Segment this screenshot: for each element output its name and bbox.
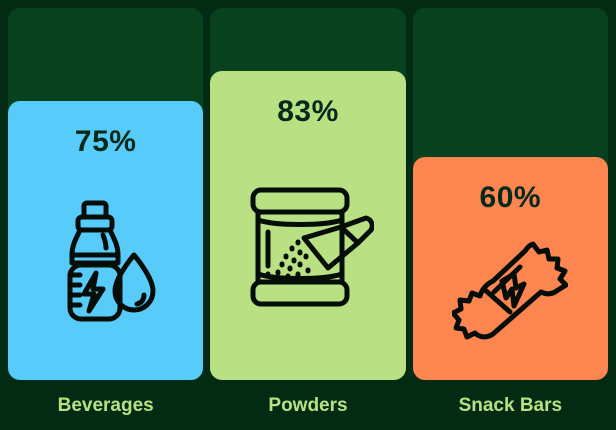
bar-label-powders: Powders	[210, 386, 405, 426]
bar-label-snack-bars: Snack Bars	[413, 386, 608, 426]
bar-column-snack-bars[interactable]: 60%	[413, 8, 608, 380]
bar-fill-snack-bars[interactable]: 60%	[413, 157, 608, 380]
snack-bar-wrapper-icon	[413, 213, 608, 380]
bar-fill-beverages[interactable]: 75%	[8, 101, 203, 380]
bar-column-powders[interactable]: 83%	[210, 8, 405, 380]
infographic-bar-chart: 75%	[0, 0, 616, 430]
bar-value-snack-bars: 60%	[480, 183, 542, 213]
labels-area: Beverages Powders Snack Bars	[8, 386, 608, 426]
protein-tub-scoop-icon	[210, 127, 405, 380]
sports-bottle-icon	[8, 157, 203, 380]
bar-label-beverages: Beverages	[8, 386, 203, 426]
bar-value-beverages: 75%	[75, 127, 137, 157]
bars-area: 75%	[8, 8, 608, 380]
bar-column-beverages[interactable]: 75%	[8, 8, 203, 380]
bar-value-powders: 83%	[277, 97, 339, 127]
bar-fill-powders[interactable]: 83%	[210, 71, 405, 380]
